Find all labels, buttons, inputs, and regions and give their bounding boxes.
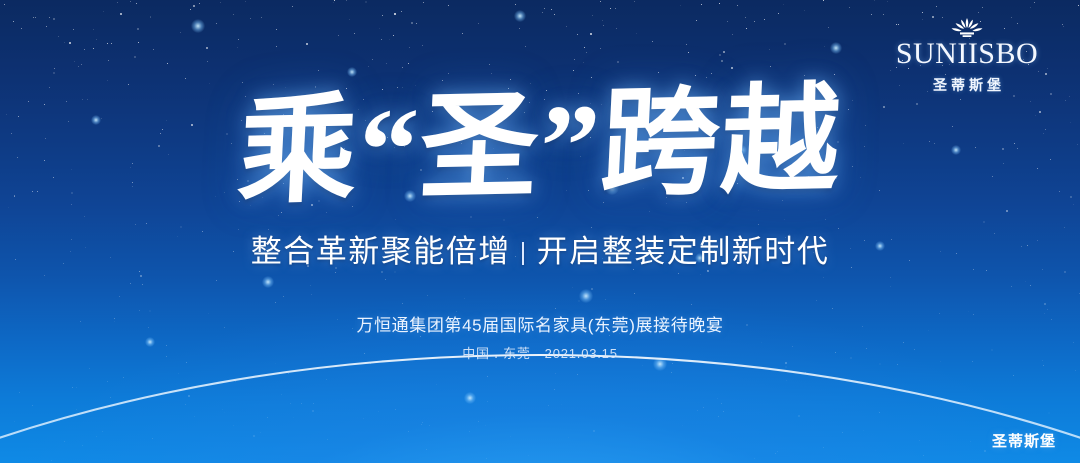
brand-logo: SUNIISBO 圣蒂斯堡 [882,16,1052,95]
headline: 乘“圣”跨越 [0,86,1080,209]
logo-wordmark: SUNIISBO [882,39,1052,69]
subtitle: 整合革新聚能倍增|开启整装定制新时代 [0,226,1080,271]
event-title: 万恒通集团第45届国际名家具(东莞)展接待晚宴 [0,311,1080,336]
subtitle-left: 整合革新聚能倍增 [251,234,511,269]
headline-text: 乘“圣”跨越 [236,80,845,215]
watermark: 圣蒂斯堡 [992,430,1056,451]
event-meta: 中国 . 东莞2021.03.15 [0,343,1080,362]
event-place: 中国 . 东莞 [462,346,530,361]
event-banner: SUNIISBO 圣蒂斯堡 乘“圣”跨越 整合革新聚能倍增|开启整装定制新时代 … [0,0,1080,463]
subtitle-right: 开启整装定制新时代 [537,234,830,269]
subtitle-separator: | [520,238,528,267]
event-date: 2021.03.15 [545,346,618,361]
lotus-sunburst-icon [882,16,1052,38]
